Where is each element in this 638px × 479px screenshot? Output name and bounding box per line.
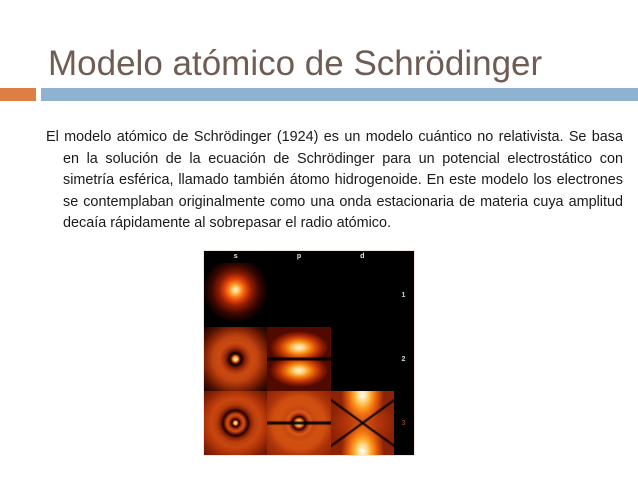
orbital-cell-1p [267,263,330,327]
orbital-cell-3s [204,391,267,455]
slide: Modelo atómico de Schrödinger El modelo … [0,0,638,479]
divider-accent-block [0,88,36,101]
orbital-2p-icon [267,327,330,391]
orbital-3d-icon [331,391,394,455]
orbital-3p-icon [267,391,330,455]
orbital-grid [204,263,394,455]
orbital-cell-2s [204,327,267,391]
orbital-cell-2p [267,327,330,391]
orbital-2s-icon [204,327,267,391]
orbital-empty-icon [331,327,394,391]
orbital-empty-icon [267,263,330,327]
row-label-2: 2 [393,327,414,391]
body-paragraph: El modelo atómico de Schrödinger (1924) … [46,127,623,235]
row-label-1: 1 [393,263,414,327]
orbital-1s-icon [204,263,267,327]
column-label-d: d [331,251,394,265]
orbital-empty-icon [331,263,394,327]
orbital-figure: s p d 1 2 3 [203,250,415,456]
orbital-cell-3p [267,391,330,455]
divider-bar [41,88,638,101]
title-divider [0,88,638,101]
orbital-3s-icon [204,391,267,455]
page-title: Modelo atómico de Schrödinger [48,43,608,85]
orbital-cell-1s [204,263,267,327]
column-label-s: s [204,251,267,265]
row-label-3: 3 [393,391,414,455]
orbital-cell-3d [331,391,394,455]
orbital-cell-1d [331,263,394,327]
orbital-row-labels: 1 2 3 [393,263,414,455]
column-label-p: p [267,251,330,265]
orbital-column-labels: s p d [204,251,394,265]
orbital-cell-2d [331,327,394,391]
